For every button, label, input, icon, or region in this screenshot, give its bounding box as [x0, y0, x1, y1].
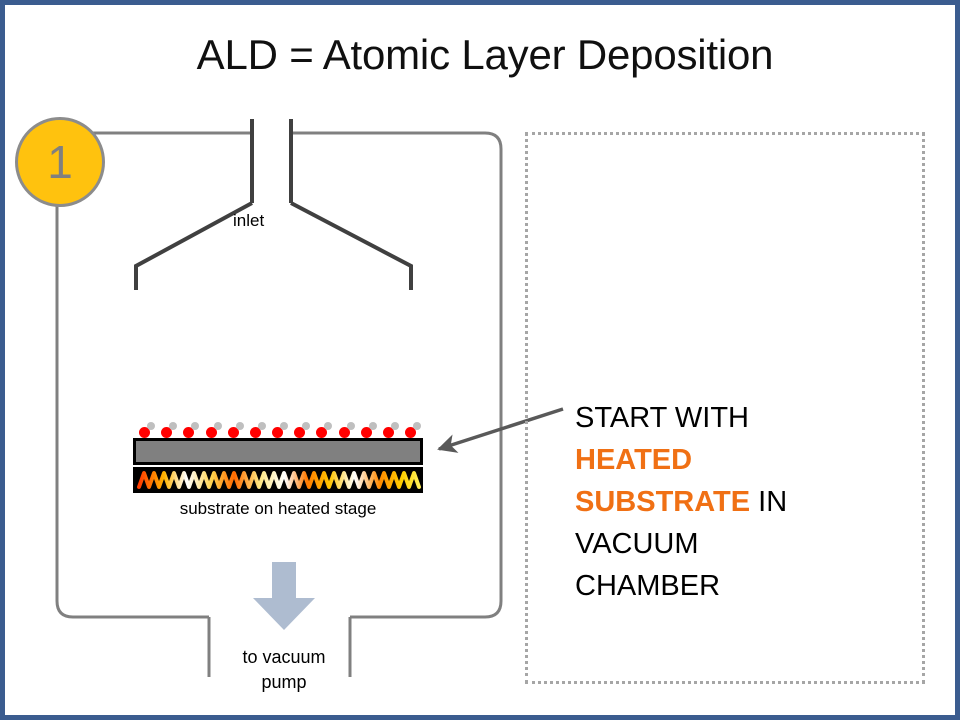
callout-text-line: START WITH: [575, 397, 915, 439]
step-number-label: 1: [47, 135, 73, 189]
vacuum-pump-label: to vacuum pump: [201, 645, 367, 695]
callout-text-line: VACUUM: [575, 523, 915, 565]
inlet-label: inlet: [233, 211, 264, 231]
hydroxyl-molecule-icon: [183, 418, 203, 438]
hydroxyl-molecule-icon: [405, 418, 425, 438]
callout-text-line: CHAMBER: [575, 565, 915, 607]
substrate-caption: substrate on heated stage: [133, 499, 423, 519]
callout-text-line: SUBSTRATE IN: [575, 481, 915, 523]
inlet-funnel: [136, 119, 411, 290]
hydroxyl-molecule-icon: [139, 418, 159, 438]
hydroxyl-molecule-icon: [228, 418, 248, 438]
hydrogen-atom-icon: [214, 422, 222, 430]
hydroxyl-molecule-icon: [294, 418, 314, 438]
hydrogen-atom-icon: [258, 422, 266, 430]
hydrogen-atom-icon: [236, 422, 244, 430]
hydrogen-atom-icon: [391, 422, 399, 430]
hydrogen-atom-icon: [369, 422, 377, 430]
hydrogen-atom-icon: [302, 422, 310, 430]
callout-highlight-text: SUBSTRATE: [575, 486, 750, 518]
hydroxyl-molecule-icon: [361, 418, 381, 438]
hydrogen-atom-icon: [191, 422, 199, 430]
hydrogen-atom-icon: [413, 422, 421, 430]
hydroxyl-molecule-icon: [161, 418, 181, 438]
hydroxyl-molecule-icon: [383, 418, 403, 438]
callout-text: START WITHHEATEDSUBSTRATE INVACUUMCHAMBE…: [575, 397, 915, 607]
hydrogen-atom-icon: [280, 422, 288, 430]
slide-canvas: ALD = Atomic Layer Deposition: [0, 0, 960, 720]
hydrogen-atom-icon: [169, 422, 177, 430]
callout-text-line: HEATED: [575, 439, 915, 481]
vacuum-down-arrow-icon: [253, 562, 315, 630]
callout-plain-text: CHAMBER: [575, 570, 720, 602]
hydrogen-atom-icon: [324, 422, 332, 430]
step-number-badge: 1: [15, 117, 105, 207]
hydroxyl-molecule-icon: [272, 418, 292, 438]
hydroxyl-molecule-icon: [206, 418, 226, 438]
hydroxyl-molecule-icon: [339, 418, 359, 438]
callout-plain-text: IN: [750, 486, 787, 518]
surface-hydroxyl-groups: [133, 418, 423, 438]
hydrogen-atom-icon: [147, 422, 155, 430]
callout-highlight-text: HEATED: [575, 444, 692, 476]
vacuum-pump-label-line1: to vacuum: [201, 645, 367, 670]
chamber-outline: [57, 133, 501, 617]
hydroxyl-molecule-icon: [316, 418, 336, 438]
heater-stage-bar: [133, 467, 423, 493]
vacuum-pump-label-line2: pump: [201, 670, 367, 695]
callout-plain-text: START WITH: [575, 402, 749, 434]
heating-coil-icon: [133, 467, 423, 493]
substrate-bar: [133, 438, 423, 465]
hydrogen-atom-icon: [347, 422, 355, 430]
substrate-stack: substrate on heated stage: [133, 418, 423, 519]
hydroxyl-molecule-icon: [250, 418, 270, 438]
callout-plain-text: VACUUM: [575, 528, 699, 560]
